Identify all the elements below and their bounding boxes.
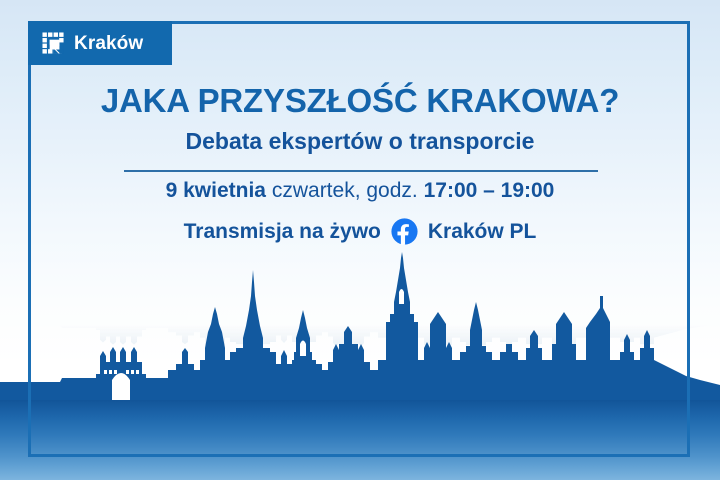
krakow-grid-logo-icon: [42, 32, 65, 55]
logo-wordmark: Kraków: [74, 34, 143, 53]
page-title: JAKA PRZYSZŁOŚĆ KRAKOWA?: [0, 84, 720, 117]
live-stream-line: Transmisja na żywo Kraków PL: [0, 218, 720, 245]
event-datetime: 9 kwietnia czwartek, godz. 17:00 – 19:00: [0, 180, 720, 201]
krakow-debate-poster: Kraków JAKA PRZYSZŁOŚĆ KRAKOWA? Debata e…: [0, 0, 720, 480]
krakow-skyline-silhouette: [0, 252, 720, 400]
facebook-page-name: Kraków PL: [428, 221, 537, 242]
water-background: [0, 396, 720, 480]
event-weekday: czwartek, godz.: [272, 179, 418, 202]
facebook-icon[interactable]: [391, 218, 418, 245]
event-time: 17:00 – 19:00: [424, 179, 555, 202]
live-stream-label: Transmisja na żywo: [184, 221, 381, 242]
event-date: 9 kwietnia: [166, 179, 266, 202]
divider-rule: [124, 170, 598, 172]
page-subtitle: Debata ekspertów o transporcie: [0, 130, 720, 153]
krakow-logo-badge[interactable]: Kraków: [28, 21, 172, 65]
